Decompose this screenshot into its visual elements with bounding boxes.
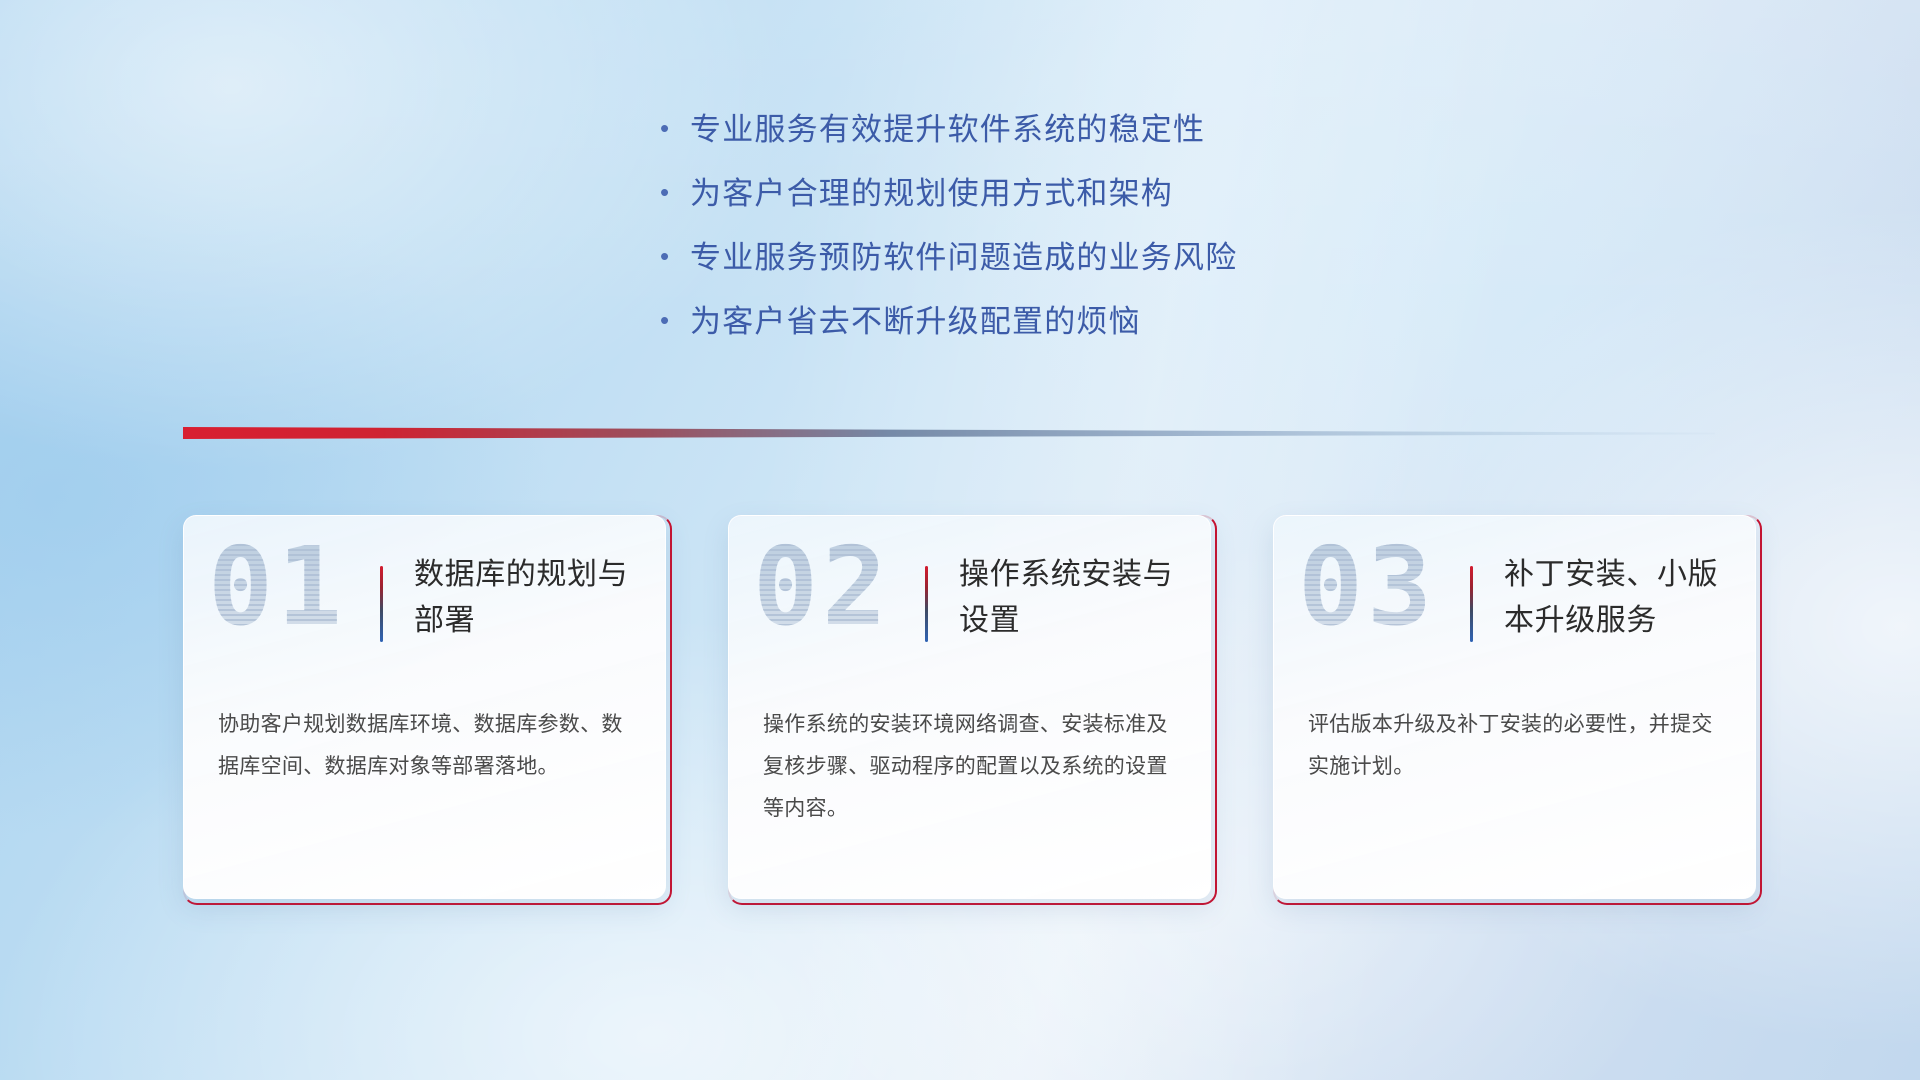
bullet-dot-icon: • xyxy=(660,179,690,205)
section-divider xyxy=(183,424,1715,442)
card-body-text: 评估版本升级及补丁安装的必要性，并提交实施计划。 xyxy=(1308,704,1728,788)
card-number-watermark: 02 xyxy=(753,534,891,642)
card-title: 操作系统安装与设置 xyxy=(959,552,1194,644)
list-item: • 为客户合理的规划使用方式和架构 xyxy=(660,168,1480,232)
service-card-02[interactable]: 02 操作系统安装与设置 操作系统的安装环境网络调查、安装标准及复核步骤、驱动程… xyxy=(728,515,1217,905)
card-number-watermark: 01 xyxy=(208,534,346,642)
bullet-text: 专业服务有效提升软件系统的稳定性 xyxy=(690,104,1205,149)
card-body-text: 协助客户规划数据库环境、数据库参数、数据库空间、数据库对象等部署落地。 xyxy=(218,704,638,788)
card-header: 02 操作系统安装与设置 xyxy=(729,516,1210,694)
card-surface: 02 操作系统安装与设置 操作系统的安装环境网络调查、安装标准及复核步骤、驱动程… xyxy=(728,515,1211,899)
bullet-dot-icon: • xyxy=(660,243,690,269)
card-header: 03 补丁安装、小版本升级服务 xyxy=(1274,516,1755,694)
service-card-03[interactable]: 03 补丁安装、小版本升级服务 评估版本升级及补丁安装的必要性，并提交实施计划。 xyxy=(1273,515,1762,905)
card-header: 01 数据库的规划与部署 xyxy=(184,516,665,694)
card-number-watermark: 03 xyxy=(1298,534,1436,642)
card-title-rule xyxy=(1470,566,1473,642)
card-title-rule xyxy=(380,566,383,642)
bullet-text: 专业服务预防软件问题造成的业务风险 xyxy=(690,232,1237,277)
service-card-row: 01 数据库的规划与部署 协助客户规划数据库环境、数据库参数、数据库空间、数据库… xyxy=(183,515,1763,905)
bullet-text: 为客户省去不断升级配置的烦恼 xyxy=(690,296,1141,341)
card-title: 补丁安装、小版本升级服务 xyxy=(1504,552,1739,644)
card-title-rule xyxy=(925,566,928,642)
benefits-bullet-list: • 专业服务有效提升软件系统的稳定性 • 为客户合理的规划使用方式和架构 • 专… xyxy=(660,104,1480,360)
bullet-dot-icon: • xyxy=(660,115,690,141)
card-title: 数据库的规划与部署 xyxy=(414,552,649,644)
card-surface: 01 数据库的规划与部署 协助客户规划数据库环境、数据库参数、数据库空间、数据库… xyxy=(183,515,666,899)
list-item: • 专业服务有效提升软件系统的稳定性 xyxy=(660,104,1480,168)
service-card-01[interactable]: 01 数据库的规划与部署 协助客户规划数据库环境、数据库参数、数据库空间、数据库… xyxy=(183,515,672,905)
list-item: • 为客户省去不断升级配置的烦恼 xyxy=(660,296,1480,360)
card-surface: 03 补丁安装、小版本升级服务 评估版本升级及补丁安装的必要性，并提交实施计划。 xyxy=(1273,515,1756,899)
list-item: • 专业服务预防软件问题造成的业务风险 xyxy=(660,232,1480,296)
bullet-text: 为客户合理的规划使用方式和架构 xyxy=(690,168,1173,213)
card-body-text: 操作系统的安装环境网络调查、安装标准及复核步骤、驱动程序的配置以及系统的设置等内… xyxy=(763,704,1183,830)
bullet-dot-icon: • xyxy=(660,307,690,333)
